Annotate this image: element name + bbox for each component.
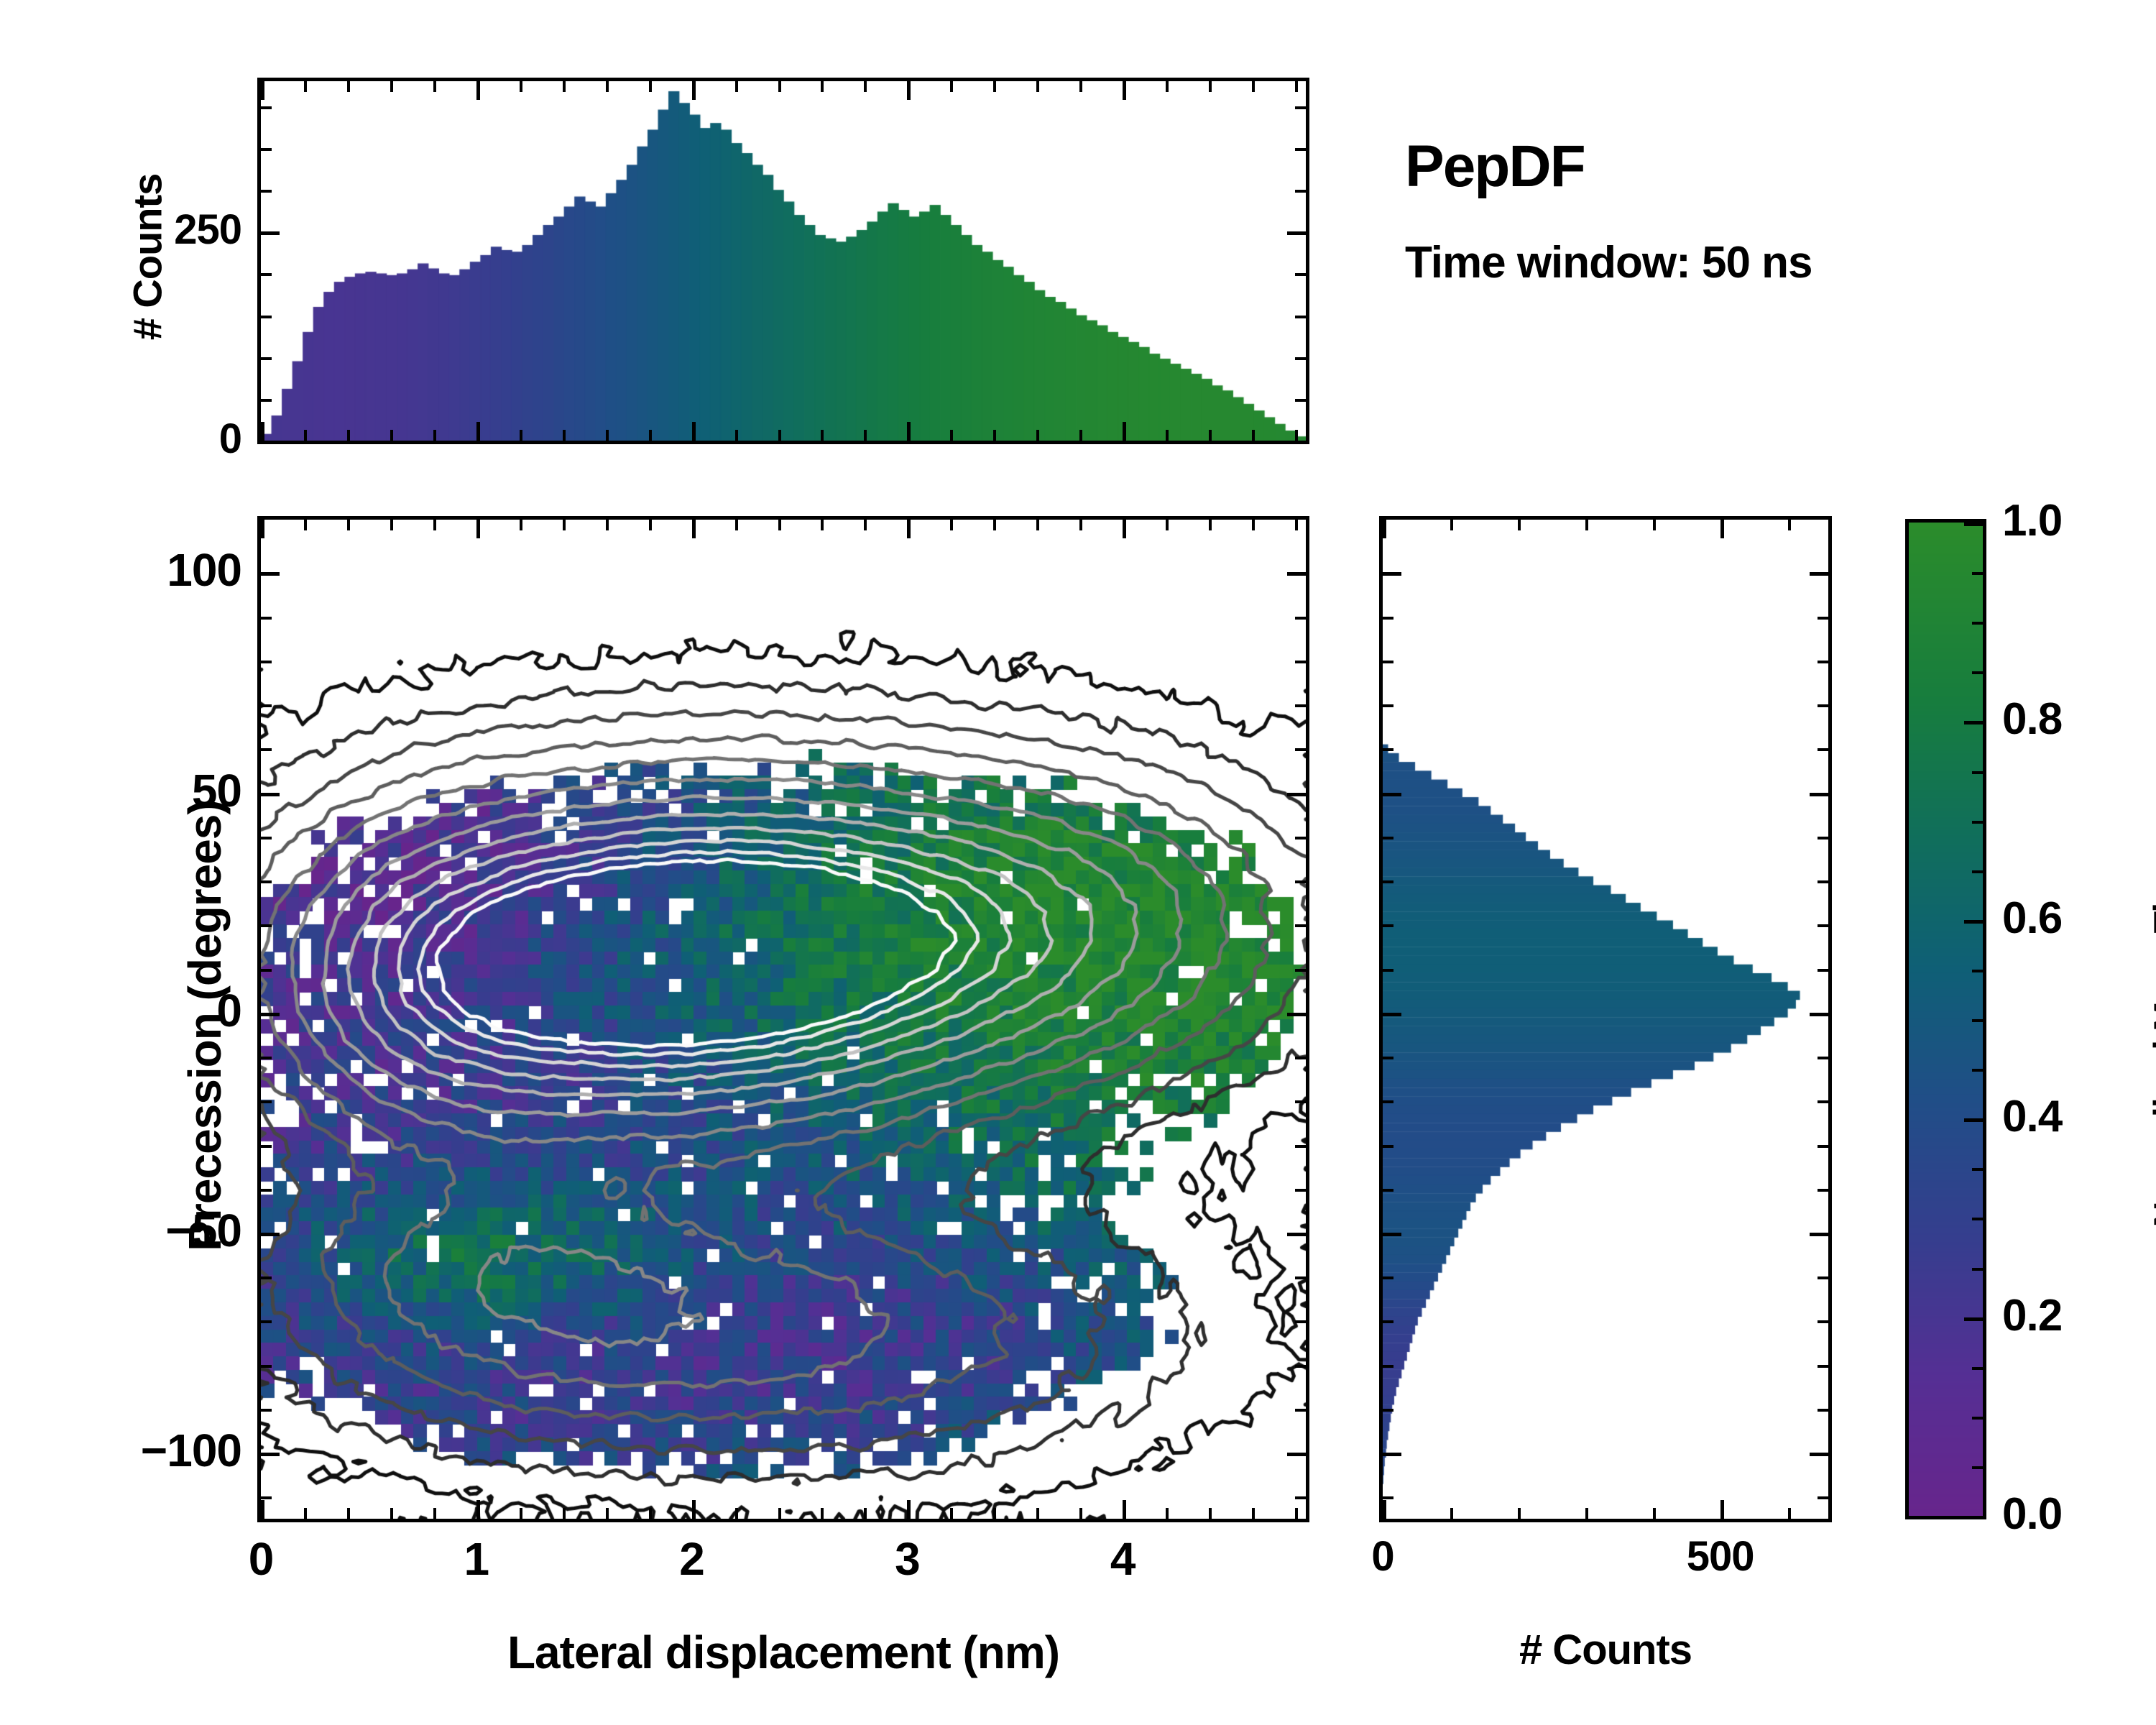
right-x-minor-tick-top: [1518, 520, 1521, 530]
right-x-minor-tick: [1518, 1508, 1521, 1519]
top-y-minor-tick: [261, 357, 272, 360]
x-major-tick-top: [1123, 520, 1126, 538]
top-x-minor-tick-upper: [950, 81, 953, 92]
y-major-tick: [261, 1453, 280, 1456]
right-y-minor-tick-right: [1818, 969, 1828, 972]
right-y-minor-tick: [1383, 837, 1393, 839]
top-y-major-tick: [261, 441, 280, 444]
x-major-tick: [476, 1500, 480, 1519]
y-minor-tick-right: [1295, 1320, 1306, 1323]
right-x-minor-tick: [1653, 1508, 1656, 1519]
y-minor-tick: [261, 1189, 272, 1192]
x-minor-tick: [304, 1508, 307, 1519]
y-minor-tick: [261, 1145, 272, 1148]
x-major-tick: [907, 1500, 911, 1519]
colorbar-minor-tick: [1972, 1019, 1983, 1022]
top-x-minor-tick: [1209, 430, 1212, 441]
right-x-minor-tick-top: [1450, 520, 1453, 530]
right-y-minor-tick-right: [1818, 1189, 1828, 1192]
top-x-major-tick: [476, 422, 480, 441]
colorbar-tick-label: 0.0: [2002, 1489, 2062, 1540]
right-x-minor-tick-top: [1788, 520, 1791, 530]
colorbar-tick-label: 0.6: [2002, 893, 2062, 944]
colorbar-tick-label: 1.0: [2002, 495, 2062, 546]
chart-title: PepDF: [1405, 133, 1585, 201]
top-x-major-tick: [692, 422, 696, 441]
right-y-major-tick-right: [1810, 793, 1828, 796]
right-y-minor-tick-right: [1818, 1496, 1828, 1499]
top-x-minor-tick-upper: [1252, 81, 1255, 92]
colorbar-minor-tick: [1972, 970, 1983, 972]
top-x-minor-tick-upper: [563, 81, 566, 92]
x-minor-tick-top: [993, 520, 996, 530]
right-y-minor-tick: [1383, 1189, 1393, 1192]
x-tick-label: 0: [249, 1532, 274, 1586]
y-minor-tick-right: [1295, 1189, 1306, 1192]
y-minor-tick: [261, 661, 272, 663]
colorbar-minor-tick: [1972, 1218, 1983, 1220]
right-hist-x-axis-label: # Counts: [1379, 1626, 1832, 1674]
right-y-minor-tick: [1383, 661, 1393, 663]
y-minor-tick-right: [1295, 880, 1306, 883]
y-minor-tick-right: [1295, 704, 1306, 707]
right-y-major-tick: [1383, 793, 1401, 796]
right-y-minor-tick-right: [1818, 748, 1828, 751]
right-x-minor-tick: [1788, 1508, 1791, 1519]
x-tick-label: 4: [1110, 1532, 1135, 1586]
x-minor-tick: [1252, 1508, 1255, 1519]
right-y-minor-tick: [1383, 1145, 1393, 1148]
top-x-minor-tick-upper: [433, 81, 436, 92]
colorbar-major-tick: [1964, 523, 1983, 526]
colorbar-minor-tick: [1972, 1268, 1983, 1271]
top-x-minor-tick: [347, 430, 350, 441]
top-x-minor-tick-upper: [1036, 81, 1039, 92]
x-minor-tick-top: [304, 520, 307, 530]
right-y-minor-tick-right: [1818, 1320, 1828, 1323]
right-y-minor-tick-right: [1818, 1100, 1828, 1103]
y-minor-tick: [261, 617, 272, 620]
top-y-minor-tick: [261, 148, 272, 151]
top-hist-y-axis-label: # Counts: [124, 78, 171, 437]
top-x-minor-tick: [1252, 430, 1255, 441]
top-x-minor-tick: [778, 430, 781, 441]
top-x-minor-tick-upper: [864, 81, 867, 92]
top-x-major-tick: [907, 422, 911, 441]
right-y-major-tick: [1383, 1233, 1401, 1236]
x-major-tick-top: [692, 520, 696, 538]
y-minor-tick-right: [1295, 1057, 1306, 1059]
colorbar-tick-label: 0.4: [2002, 1091, 2062, 1142]
x-minor-tick-top: [1295, 520, 1298, 530]
y-tick-label: 0: [216, 984, 241, 1037]
x-major-tick-top: [261, 520, 264, 538]
y-major-tick: [261, 1013, 280, 1016]
top-x-major-tick-upper: [907, 81, 911, 100]
colorbar-minor-tick: [1972, 1466, 1983, 1469]
y-minor-tick: [261, 837, 272, 839]
y-minor-tick-right: [1295, 924, 1306, 927]
x-tick-label: 2: [679, 1532, 704, 1586]
right-y-minor-tick: [1383, 924, 1393, 927]
x-minor-tick: [993, 1508, 996, 1519]
colorbar-minor-tick: [1972, 572, 1983, 575]
x-axis-label: Lateral displacement (nm): [257, 1626, 1309, 1679]
right-y-minor-tick: [1383, 969, 1393, 972]
x-major-tick: [1123, 1500, 1126, 1519]
top-x-minor-tick-upper: [304, 81, 307, 92]
right-y-minor-tick: [1383, 880, 1393, 883]
y-minor-tick: [261, 1365, 272, 1368]
top-marginal-histogram: [257, 78, 1309, 444]
y-minor-tick: [261, 1100, 272, 1103]
top-x-minor-tick-upper: [1209, 81, 1212, 92]
right-y-minor-tick: [1383, 1100, 1393, 1103]
top-x-major-tick-upper: [476, 81, 480, 100]
y-minor-tick: [261, 1320, 272, 1323]
top-y-minor-tick-right: [1295, 273, 1306, 276]
top-x-minor-tick: [864, 430, 867, 441]
top-x-minor-tick-upper: [821, 81, 824, 92]
right-y-minor-tick-right: [1818, 880, 1828, 883]
colorbar-major-tick: [1964, 1118, 1983, 1122]
colorbar-minor-tick: [1972, 870, 1983, 873]
x-minor-tick: [433, 1508, 436, 1519]
x-minor-tick: [1036, 1508, 1039, 1519]
right-x-minor-tick-top: [1653, 520, 1656, 530]
top-y-minor-tick-right: [1295, 357, 1306, 360]
y-minor-tick: [261, 1057, 272, 1059]
top-y-minor-tick-right: [1295, 106, 1306, 109]
right-x-minor-tick-top: [1585, 520, 1588, 530]
right-y-minor-tick-right: [1818, 1057, 1828, 1059]
colorbar-major-tick: [1964, 920, 1983, 924]
top-x-minor-tick: [993, 430, 996, 441]
top-x-minor-tick: [1036, 430, 1039, 441]
right-y-major-tick-right: [1810, 1453, 1828, 1456]
top-x-major-tick-upper: [692, 81, 696, 100]
top-x-minor-tick: [390, 430, 393, 441]
right-x-major-tick: [1720, 1500, 1724, 1519]
y-tick-label: 50: [192, 764, 241, 817]
top-x-minor-tick: [1166, 430, 1169, 441]
x-minor-tick: [1166, 1508, 1169, 1519]
x-minor-tick-top: [1166, 520, 1169, 530]
top-x-minor-tick: [735, 430, 738, 441]
colorbar-minor-tick: [1972, 671, 1983, 674]
y-minor-tick: [261, 1496, 272, 1499]
colorbar-minor-tick: [1972, 1168, 1983, 1171]
y-major-tick-right: [1287, 572, 1306, 576]
top-y-tick-label: 250: [174, 206, 241, 254]
x-minor-tick-top: [950, 520, 953, 530]
x-minor-tick-top: [1209, 520, 1212, 530]
main-heatmap-panel: [257, 516, 1309, 1522]
top-x-minor-tick: [433, 430, 436, 441]
y-minor-tick-right: [1295, 748, 1306, 751]
right-y-minor-tick-right: [1818, 661, 1828, 663]
top-y-minor-tick-right: [1295, 316, 1306, 318]
x-tick-label: 1: [464, 1532, 489, 1586]
y-minor-tick-right: [1295, 1496, 1306, 1499]
y-minor-tick-right: [1295, 837, 1306, 839]
x-minor-tick: [864, 1508, 867, 1519]
y-minor-tick-right: [1295, 1409, 1306, 1412]
top-x-minor-tick-upper: [606, 81, 609, 92]
top-x-minor-tick: [304, 430, 307, 441]
y-major-tick: [261, 793, 280, 796]
top-y-major-tick-right: [1287, 231, 1306, 235]
right-y-minor-tick: [1383, 1276, 1393, 1279]
x-minor-tick-top: [433, 520, 436, 530]
right-x-tick-label: 0: [1371, 1532, 1393, 1581]
right-y-minor-tick-right: [1818, 1276, 1828, 1279]
top-x-minor-tick-upper: [1166, 81, 1169, 92]
top-x-minor-tick-upper: [735, 81, 738, 92]
top-x-minor-tick-upper: [649, 81, 652, 92]
y-minor-tick: [261, 748, 272, 751]
y-minor-tick: [261, 704, 272, 707]
y-major-tick: [261, 572, 280, 576]
x-minor-tick-top: [1036, 520, 1039, 530]
right-y-major-tick: [1383, 1013, 1401, 1016]
right-y-minor-tick-right: [1818, 924, 1828, 927]
top-y-minor-tick: [261, 190, 272, 193]
top-x-minor-tick-upper: [1295, 81, 1298, 92]
x-minor-tick-top: [1252, 520, 1255, 530]
colorbar-label: Normalized Mean Time: [2146, 681, 2156, 1399]
x-major-tick: [692, 1500, 696, 1519]
y-minor-tick: [261, 1409, 272, 1412]
x-minor-tick: [606, 1508, 609, 1519]
top-y-minor-tick-right: [1295, 148, 1306, 151]
x-tick-label: 3: [895, 1532, 920, 1586]
y-tick-label: −100: [141, 1424, 241, 1477]
y-minor-tick-right: [1295, 1365, 1306, 1368]
y-minor-tick-right: [1295, 661, 1306, 663]
y-major-tick: [261, 1233, 280, 1236]
top-x-minor-tick: [649, 430, 652, 441]
y-minor-tick-right: [1295, 969, 1306, 972]
y-major-tick-right: [1287, 793, 1306, 796]
colorbar-minor-tick: [1972, 1367, 1983, 1370]
top-x-minor-tick: [1079, 430, 1082, 441]
x-minor-tick: [778, 1508, 781, 1519]
x-major-tick-top: [476, 520, 480, 538]
right-x-minor-tick: [1450, 1508, 1453, 1519]
top-y-minor-tick: [261, 316, 272, 318]
top-x-minor-tick: [1295, 430, 1298, 441]
x-minor-tick: [649, 1508, 652, 1519]
top-y-minor-tick: [261, 106, 272, 109]
right-y-minor-tick: [1383, 1409, 1393, 1412]
top-x-major-tick: [1123, 422, 1126, 441]
top-y-minor-tick-right: [1295, 399, 1306, 402]
top-x-minor-tick-upper: [1079, 81, 1082, 92]
right-y-major-tick-right: [1810, 1013, 1828, 1016]
right-y-major-tick-right: [1810, 1233, 1828, 1236]
right-y-minor-tick-right: [1818, 1365, 1828, 1368]
right-y-minor-tick: [1383, 1057, 1393, 1059]
colorbar-major-tick: [1964, 1317, 1983, 1321]
y-minor-tick: [261, 880, 272, 883]
right-x-major-tick-top: [1720, 520, 1724, 538]
top-x-minor-tick-upper: [390, 81, 393, 92]
colorbar-minor-tick: [1972, 821, 1983, 824]
y-major-tick-right: [1287, 1233, 1306, 1236]
x-minor-tick-top: [563, 520, 566, 530]
top-y-tick-label: 0: [219, 415, 241, 463]
x-minor-tick-top: [649, 520, 652, 530]
right-x-tick-label: 500: [1687, 1532, 1754, 1581]
top-y-minor-tick: [261, 399, 272, 402]
colorbar-minor-tick: [1972, 622, 1983, 625]
x-minor-tick: [347, 1508, 350, 1519]
y-minor-tick-right: [1295, 617, 1306, 620]
x-major-tick-top: [907, 520, 911, 538]
y-minor-tick-right: [1295, 1100, 1306, 1103]
colorbar-major-tick: [1964, 1516, 1983, 1519]
right-y-minor-tick-right: [1818, 837, 1828, 839]
x-minor-tick-top: [1079, 520, 1082, 530]
top-x-minor-tick-upper: [520, 81, 522, 92]
colorbar-major-tick: [1964, 721, 1983, 724]
colorbar-minor-tick: [1972, 771, 1983, 774]
x-minor-tick-top: [735, 520, 738, 530]
top-x-major-tick-upper: [1123, 81, 1126, 100]
top-x-minor-tick: [950, 430, 953, 441]
x-minor-tick-top: [864, 520, 867, 530]
y-tick-label: 100: [167, 543, 241, 597]
top-x-minor-tick: [520, 430, 522, 441]
top-y-major-tick-right: [1287, 441, 1306, 444]
x-major-tick: [261, 1500, 264, 1519]
right-y-minor-tick-right: [1818, 1409, 1828, 1412]
x-minor-tick: [1295, 1508, 1298, 1519]
y-minor-tick-right: [1295, 1145, 1306, 1148]
x-minor-tick: [821, 1508, 824, 1519]
top-x-minor-tick: [606, 430, 609, 441]
y-major-tick-right: [1287, 1453, 1306, 1456]
x-minor-tick: [950, 1508, 953, 1519]
y-tick-label: −50: [165, 1204, 241, 1257]
top-y-minor-tick-right: [1295, 190, 1306, 193]
right-y-minor-tick-right: [1818, 704, 1828, 707]
right-y-minor-tick: [1383, 617, 1393, 620]
top-x-minor-tick: [821, 430, 824, 441]
x-minor-tick: [520, 1508, 522, 1519]
y-minor-tick: [261, 1276, 272, 1279]
top-x-minor-tick-upper: [347, 81, 350, 92]
right-y-minor-tick: [1383, 1320, 1393, 1323]
x-minor-tick-top: [390, 520, 393, 530]
x-minor-tick-top: [347, 520, 350, 530]
right-x-major-tick-top: [1383, 520, 1386, 538]
top-y-major-tick: [261, 231, 280, 235]
top-x-minor-tick: [563, 430, 566, 441]
right-y-major-tick: [1383, 572, 1401, 576]
right-marginal-histogram: [1379, 516, 1832, 1522]
colorbar-tick-label: 0.2: [2002, 1290, 2062, 1341]
right-y-major-tick: [1383, 1453, 1401, 1456]
right-y-minor-tick: [1383, 1365, 1393, 1368]
colorbar-tick-label: 0.8: [2002, 694, 2062, 745]
right-y-minor-tick-right: [1818, 1145, 1828, 1148]
x-minor-tick: [390, 1508, 393, 1519]
colorbar-minor-tick: [1972, 1417, 1983, 1420]
top-y-minor-tick: [261, 273, 272, 276]
right-y-major-tick-right: [1810, 572, 1828, 576]
x-minor-tick: [1209, 1508, 1212, 1519]
x-minor-tick: [1079, 1508, 1082, 1519]
right-x-major-tick: [1383, 1500, 1386, 1519]
x-minor-tick-top: [778, 520, 781, 530]
colorbar-minor-tick: [1972, 1069, 1983, 1072]
y-major-tick-right: [1287, 1013, 1306, 1016]
x-minor-tick-top: [520, 520, 522, 530]
x-minor-tick-top: [821, 520, 824, 530]
top-x-major-tick: [261, 422, 264, 441]
y-minor-tick-right: [1295, 1276, 1306, 1279]
right-x-minor-tick: [1585, 1508, 1588, 1519]
top-x-minor-tick-upper: [778, 81, 781, 92]
y-minor-tick: [261, 924, 272, 927]
chart-subtitle: Time window: 50 ns: [1405, 237, 1812, 288]
right-y-minor-tick: [1383, 704, 1393, 707]
y-minor-tick: [261, 969, 272, 972]
x-minor-tick: [563, 1508, 566, 1519]
right-y-minor-tick-right: [1818, 617, 1828, 620]
x-minor-tick: [735, 1508, 738, 1519]
top-x-major-tick-upper: [261, 81, 264, 100]
top-x-minor-tick-upper: [993, 81, 996, 92]
right-y-minor-tick: [1383, 748, 1393, 751]
right-y-minor-tick: [1383, 1496, 1393, 1499]
x-minor-tick-top: [606, 520, 609, 530]
